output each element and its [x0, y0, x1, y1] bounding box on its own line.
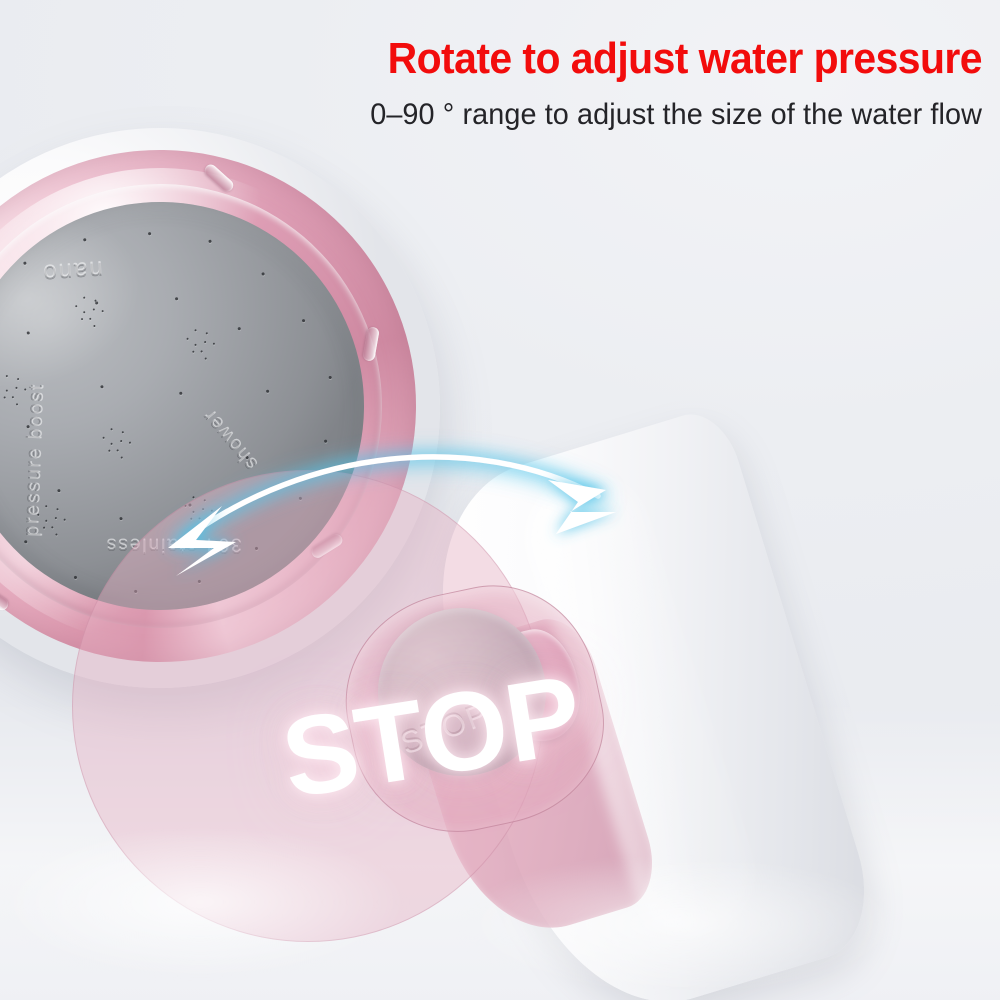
headline: Rotate to adjust water pressure	[69, 36, 982, 82]
product-marketing-image: pressure boost nano shower 304 stainless…	[0, 0, 1000, 1000]
product-shower-head: pressure boost nano shower 304 stainless…	[0, 110, 780, 940]
floor-reflection-right	[420, 860, 940, 1000]
emboss-brand-nano: nano	[40, 255, 103, 287]
floor-reflection-left	[0, 830, 440, 1000]
emboss-304-stainless: 304 stainless	[105, 534, 242, 556]
subheadline: 0–90 ° range to adjust the size of the w…	[39, 98, 982, 133]
